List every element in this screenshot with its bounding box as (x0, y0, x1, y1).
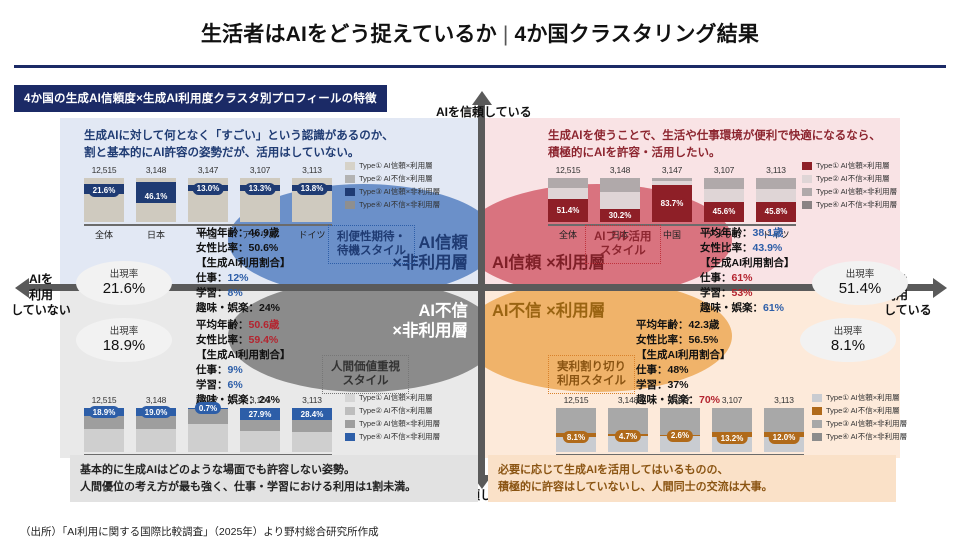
bar-value-label: 13.2% (717, 432, 748, 444)
work-value: 61% (732, 272, 753, 284)
age-value: 42.3歳 (689, 319, 720, 331)
legend-top-left: Type① AI信頼×利用層Type② AI不信×利用層Type③ AI信頼×非… (345, 160, 440, 212)
bar-column: 12,5158.1% (556, 408, 596, 452)
usage-header: 【生成AI利用割合】 (196, 348, 291, 363)
occurrence-bubble-bottom-left: 出現率 18.9% (76, 318, 172, 362)
bar-value-label: 28.4% (297, 408, 328, 420)
sample-size-label: 12,515 (84, 165, 124, 175)
bar-column: 3,14830.2% (600, 178, 640, 222)
occurrence-caption: 出現率 (110, 270, 139, 280)
legend-swatch (345, 175, 355, 183)
occurrence-caption: 出現率 (110, 327, 139, 337)
stacked-bar: 51.4% (548, 178, 588, 222)
legend-label: Type③ AI信頼×非利用層 (359, 418, 440, 431)
stacked-bar: 13.8% (292, 178, 332, 222)
stacked-bar: 13.0% (188, 178, 228, 222)
legend-swatch (802, 188, 812, 196)
legend-item: Type② AI不信×利用層 (345, 405, 440, 418)
bar-value-label: 27.9% (245, 408, 276, 420)
age-label: 平均年齢： (700, 227, 753, 239)
category-label: 全体 (548, 228, 588, 241)
bar-column: 3,10727.9% (240, 408, 280, 452)
bar-column: 3,11328.4% (292, 408, 332, 452)
stacked-bar: 18.9% (84, 408, 124, 452)
legend-item: Type① AI信頼×利用層 (812, 392, 907, 405)
bar-column: 3,14819.0% (136, 408, 176, 452)
title-divider (14, 65, 946, 68)
legend-item: Type④ AI不信×非利用層 (345, 431, 440, 444)
summary-bottom-left: 基本的に生成AIはどのような場面でも許容しない姿勢。 人間優位の考え方が最も強く… (70, 455, 478, 502)
profile-top-left: 平均年齢：46.9歳 女性比率：50.6% 【生成AI利用割合】 仕事：12% … (196, 226, 291, 315)
female-label: 女性比率： (196, 334, 249, 346)
occurrence-value: 8.1% (831, 338, 865, 354)
quadrant-label-line2: ×利用層 (546, 302, 605, 320)
occurrence-value: 21.6% (103, 281, 146, 297)
bar-segment (84, 416, 124, 428)
bar-value-label: 13.8% (297, 183, 328, 195)
legend-swatch (812, 420, 822, 428)
sample-size-label: 3,113 (292, 165, 332, 175)
stacked-bar: 8.1% (556, 408, 596, 452)
occurrence-bubble-top-left: 出現率 21.6% (76, 261, 172, 305)
legend-label: Type① AI信頼×利用層 (826, 392, 900, 405)
legend-label: Type④ AI不信×非利用層 (816, 199, 897, 212)
bar-segment (240, 191, 280, 222)
work-value: 48% (668, 364, 689, 376)
female-label: 女性比率： (700, 242, 753, 254)
bar-segment (712, 408, 752, 432)
bar-column: 3,14783.7% (652, 178, 692, 222)
work-value: 12% (228, 272, 249, 284)
bar-segment (136, 416, 176, 428)
legend-item: Type① AI信頼×利用層 (345, 392, 440, 405)
sample-size-label: 12,515 (548, 165, 588, 175)
bar-segment (136, 429, 176, 452)
age-label: 平均年齢： (636, 319, 689, 331)
legend-bottom-left: Type① AI信頼×利用層Type② AI不信×利用層Type③ AI信頼×非… (345, 392, 440, 444)
legend-label: Type① AI信頼×利用層 (816, 160, 890, 173)
legend-swatch (345, 201, 355, 209)
quadrant-label-line1: AI不信 (419, 302, 469, 320)
stacked-bar: 12.0% (764, 408, 804, 452)
bar-segment (292, 432, 332, 452)
quadrant-label-line2: ×非利用層 (392, 322, 468, 342)
sample-size-label: 3,148 (608, 395, 648, 405)
stacked-bar: 2.6% (660, 408, 700, 452)
legend-label: Type④ AI不信×非利用層 (359, 431, 440, 444)
infographic-page: 生活者はAIをどう捉えているか|4か国クラスタリング結果 4か国の生成AI信頼度… (0, 0, 960, 560)
bar-column: 3,10745.6% (704, 178, 744, 222)
age-value: 50.6歳 (249, 319, 280, 331)
study-value: 6% (228, 379, 243, 391)
bar-segment (764, 408, 804, 432)
legend-label: Type② AI不信×利用層 (359, 173, 433, 186)
bar-column: 12,51518.9% (84, 408, 124, 452)
bar-value-label: 19.0% (141, 406, 172, 418)
bar-segment (548, 188, 588, 200)
study-value: 8% (228, 287, 243, 299)
legend-item: Type④ AI不信×非利用層 (345, 199, 440, 212)
hobby-value: 24% (259, 302, 280, 314)
stacked-bar: 21.6% (84, 178, 124, 222)
legend-item: Type② AI不信×利用層 (345, 173, 440, 186)
female-value: 56.5% (689, 334, 719, 346)
bar-segment (188, 424, 228, 452)
stacked-bar: 30.2% (600, 178, 640, 222)
page-title: 生活者はAIをどう捉えているか|4か国クラスタリング結果 (0, 18, 960, 48)
legend-item: Type③ AI信頼×非利用層 (345, 418, 440, 431)
bar-segment (704, 178, 744, 189)
legend-swatch (345, 407, 355, 415)
bar-segment (756, 189, 796, 202)
stacked-bar: 83.7% (652, 178, 692, 222)
bar-segment (292, 191, 332, 222)
bar-value-label: 8.1% (563, 431, 589, 443)
style-badge-bottom-right: 実利割り切り 利用スタイル (548, 355, 635, 394)
age-label: 平均年齢： (196, 319, 249, 331)
bar-value-label: 13.0% (193, 183, 224, 195)
stacked-bar: 13.3% (240, 178, 280, 222)
bar-column: 3,14846.1% (136, 178, 176, 222)
female-value: 43.9% (753, 242, 783, 254)
quadrant-label-bottom-left: AI不信 ×非利用層 (392, 302, 468, 342)
occurrence-caption: 出現率 (834, 327, 863, 337)
sample-size-label: 3,113 (764, 395, 804, 405)
legend-swatch (812, 407, 822, 415)
legend-item: Type③ AI信頼×非利用層 (345, 186, 440, 199)
category-label: ドイツ (292, 228, 332, 241)
sample-size-label: 3,148 (136, 165, 176, 175)
summary-bottom-right: 必要に応じて生成AIを活用してはいるものの、 積極的に許容はしていないし、人間同… (488, 455, 896, 502)
category-label: 全体 (84, 228, 124, 241)
source-note: （出所）「AI利用に関する国際比較調査」（2025年）より野村総合研究所作成 (20, 524, 379, 539)
sample-size-label: 3,107 (240, 165, 280, 175)
sample-size-label: 3,107 (704, 165, 744, 175)
bar-column: 3,10713.3% (240, 178, 280, 222)
bar-column: 3,1470.7% (188, 408, 228, 452)
hobby-value: 61% (763, 302, 784, 314)
usage-header: 【生成AI利用割合】 (700, 256, 795, 271)
study-label: 学習： (636, 379, 668, 391)
work-value: 9% (228, 364, 243, 376)
stacked-bar: 27.9% (240, 408, 280, 452)
axis-label-top: AIを信頼している (436, 103, 532, 120)
legend-swatch (802, 201, 812, 209)
bar-group: 12,51518.9%3,14819.0%3,1470.7%3,10727.9%… (84, 400, 332, 452)
bar-column: 3,11312.0% (764, 408, 804, 452)
work-label: 仕事： (196, 364, 228, 376)
bar-value-label: 13.3% (245, 183, 276, 195)
bar-column: 3,14713.0% (188, 178, 228, 222)
bar-segment (84, 429, 124, 452)
legend-label: Type④ AI不信×非利用層 (359, 199, 440, 212)
bar-value-label: 0.7% (195, 402, 221, 414)
bar-value-label: 51.4% (553, 205, 584, 217)
bar-value-label: 12.0% (769, 432, 800, 444)
legend-item: Type① AI信頼×利用層 (802, 160, 897, 173)
legend-swatch (345, 420, 355, 428)
profile-top-right: 平均年齢：38.1歳 女性比率：43.9% 【生成AI利用割合】 仕事：61% … (700, 226, 795, 315)
bar-segment (240, 431, 280, 452)
bar-segment (188, 191, 228, 222)
bar-value-label: 83.7% (657, 198, 688, 210)
bar-segment (240, 420, 280, 431)
usage-header: 【生成AI利用割合】 (636, 348, 731, 363)
sample-size-label: 3,147 (652, 165, 692, 175)
stacked-bar: 46.1% (136, 178, 176, 222)
legend-item: Type③ AI信頼×非利用層 (802, 186, 897, 199)
sample-size-label: 3,107 (712, 395, 752, 405)
sample-size-label: 3,148 (136, 395, 176, 405)
legend-label: Type④ AI不信×非利用層 (826, 431, 907, 444)
bar-value-label: 45.6% (709, 206, 740, 218)
lead-text-top-left: 生成AIに対して何となく「すごい」という認識があるのか、 割と基本的にAI許容の… (84, 128, 394, 161)
legend-label: Type③ AI信頼×非利用層 (359, 186, 440, 199)
bar-value-label: 30.2% (605, 209, 636, 221)
legend-label: Type② AI不信×利用層 (816, 173, 890, 186)
study-label: 学習： (196, 379, 228, 391)
study-value: 53% (732, 287, 753, 299)
occurrence-bubble-top-right: 出現率 51.4% (812, 261, 908, 305)
bar-segment (136, 203, 176, 222)
section-tag: 4か国の生成AI信頼度×生成AI利用度クラスタ別プロフィールの特徴 (14, 85, 387, 112)
bar-segment (84, 194, 124, 222)
bar-column: 3,1472.6% (660, 408, 700, 452)
study-label: 学習： (700, 287, 732, 299)
sample-size-label: 3,107 (240, 395, 280, 405)
bar-value-label: 18.9% (89, 406, 120, 418)
occurrence-bubble-bottom-right: 出現率 8.1% (800, 318, 896, 362)
work-label: 仕事： (700, 272, 732, 284)
bar-column: 3,11313.8% (292, 178, 332, 222)
female-label: 女性比率： (636, 334, 689, 346)
sample-size-label: 3,147 (660, 395, 700, 405)
stacked-bar: 45.8% (756, 178, 796, 222)
legend-swatch (812, 394, 822, 402)
legend-item: Type② AI不信×利用層 (812, 405, 907, 418)
bar-value-label: 4.7% (615, 430, 641, 442)
legend-swatch (345, 394, 355, 402)
legend-label: Type② AI不信×利用層 (359, 405, 433, 418)
bar-group: 12,51521.6%3,14846.1%3,14713.0%3,10713.3… (84, 170, 332, 222)
lead-text-top-right: 生成AIを使うことで、生活や仕事環境が便利で快適になるなら、 積極的にAIを許容… (548, 128, 881, 161)
legend-item: Type④ AI不信×非利用層 (802, 199, 897, 212)
bar-value-label: 46.1% (141, 190, 172, 202)
bar-column: 3,10713.2% (712, 408, 752, 452)
quadrant-label-line1: AI不信 (492, 302, 542, 320)
female-label: 女性比率： (196, 242, 249, 254)
legend-swatch (812, 433, 822, 441)
stacked-bar: 4.7% (608, 408, 648, 452)
legend-swatch (345, 162, 355, 170)
bar-segment (556, 408, 596, 433)
age-value: 38.1歳 (753, 227, 784, 239)
legend-bottom-right: Type① AI信頼×利用層Type② AI不信×利用層Type③ AI信頼×非… (812, 392, 907, 444)
quadrant-label-line1: AI信頼 (419, 234, 469, 252)
style-badge-top-right: AIフル活用 スタイル (585, 225, 661, 264)
legend-swatch (802, 162, 812, 170)
study-label: 学習： (196, 287, 228, 299)
occurrence-value: 18.9% (103, 338, 146, 354)
legend-swatch (345, 188, 355, 196)
age-label: 平均年齢： (196, 227, 249, 239)
usage-header: 【生成AI利用割合】 (196, 256, 291, 271)
style-badge-top-left: 利便性期待・ 待機スタイル (328, 225, 415, 264)
legend-label: Type③ AI信頼×非利用層 (816, 186, 897, 199)
female-value: 50.6% (249, 242, 279, 254)
stacked-bar: 19.0% (136, 408, 176, 452)
style-badge-bottom-left: 人間価値重視 スタイル (322, 355, 409, 394)
bar-value-label: 2.6% (667, 430, 693, 442)
bar-group: 12,5158.1%3,1484.7%3,1472.6%3,10713.2%3,… (556, 400, 804, 452)
legend-item: Type④ AI不信×非利用層 (812, 431, 907, 444)
bar-column: 3,1484.7% (608, 408, 648, 452)
bar-value-label: 45.8% (761, 206, 792, 218)
occurrence-caption: 出現率 (846, 270, 875, 280)
sample-size-label: 3,113 (756, 165, 796, 175)
stacked-bar: 45.6% (704, 178, 744, 222)
bar-column: 12,51521.6% (84, 178, 124, 222)
legend-top-right: Type① AI信頼×利用層Type② AI不信×利用層Type③ AI信頼×非… (802, 160, 897, 212)
bar-segment (756, 178, 796, 189)
title-separator: | (497, 23, 515, 46)
sample-size-label: 3,148 (600, 165, 640, 175)
legend-label: Type② AI不信×利用層 (826, 405, 900, 418)
hobby-label: 趣味・娯楽： (196, 302, 259, 314)
page-title-left: 生活者はAIをどう捉えているか (201, 23, 497, 46)
legend-label: Type① AI信頼×利用層 (359, 160, 433, 173)
category-label: 日本 (136, 228, 176, 241)
legend-item: Type③ AI信頼×非利用層 (812, 418, 907, 431)
quadrant-label-bottom-right: AI不信 ×利用層 (492, 302, 605, 322)
study-value: 37% (668, 379, 689, 391)
bar-group: 12,51551.4%3,14830.2%3,14783.7%3,10745.6… (548, 170, 796, 222)
work-label: 仕事： (196, 272, 228, 284)
sample-size-label: 12,515 (556, 395, 596, 405)
age-value: 46.9歳 (249, 227, 280, 239)
legend-label: Type① AI信頼×利用層 (359, 392, 433, 405)
legend-item: Type① AI信頼×利用層 (345, 160, 440, 173)
legend-swatch (345, 433, 355, 441)
bar-segment (292, 420, 332, 431)
bar-column: 12,51551.4% (548, 178, 588, 222)
bar-segment (600, 192, 640, 209)
stacked-bar: 13.2% (712, 408, 752, 452)
legend-item: Type② AI不信×利用層 (802, 173, 897, 186)
female-value: 59.4% (249, 334, 279, 346)
quadrant-label-line1: AI信頼 (492, 254, 542, 272)
sample-size-label: 12,515 (84, 395, 124, 405)
axis-label-left: AIを 利用 していない (8, 272, 74, 319)
bar-column: 3,11345.8% (756, 178, 796, 222)
stacked-bar: 0.7% (188, 408, 228, 452)
legend-swatch (802, 175, 812, 183)
page-title-right: 4か国クラスタリング結果 (514, 23, 759, 46)
bar-segment (704, 189, 744, 202)
stacked-bar: 28.4% (292, 408, 332, 452)
bar-value-label: 21.6% (89, 185, 120, 197)
sample-size-label: 3,147 (188, 165, 228, 175)
bar-segment (548, 178, 588, 188)
sample-size-label: 3,113 (292, 395, 332, 405)
legend-label: Type③ AI信頼×非利用層 (826, 418, 907, 431)
hobby-label: 趣味・娯楽： (700, 302, 763, 314)
occurrence-value: 51.4% (839, 281, 882, 297)
work-label: 仕事： (636, 364, 668, 376)
bar-segment (600, 178, 640, 192)
